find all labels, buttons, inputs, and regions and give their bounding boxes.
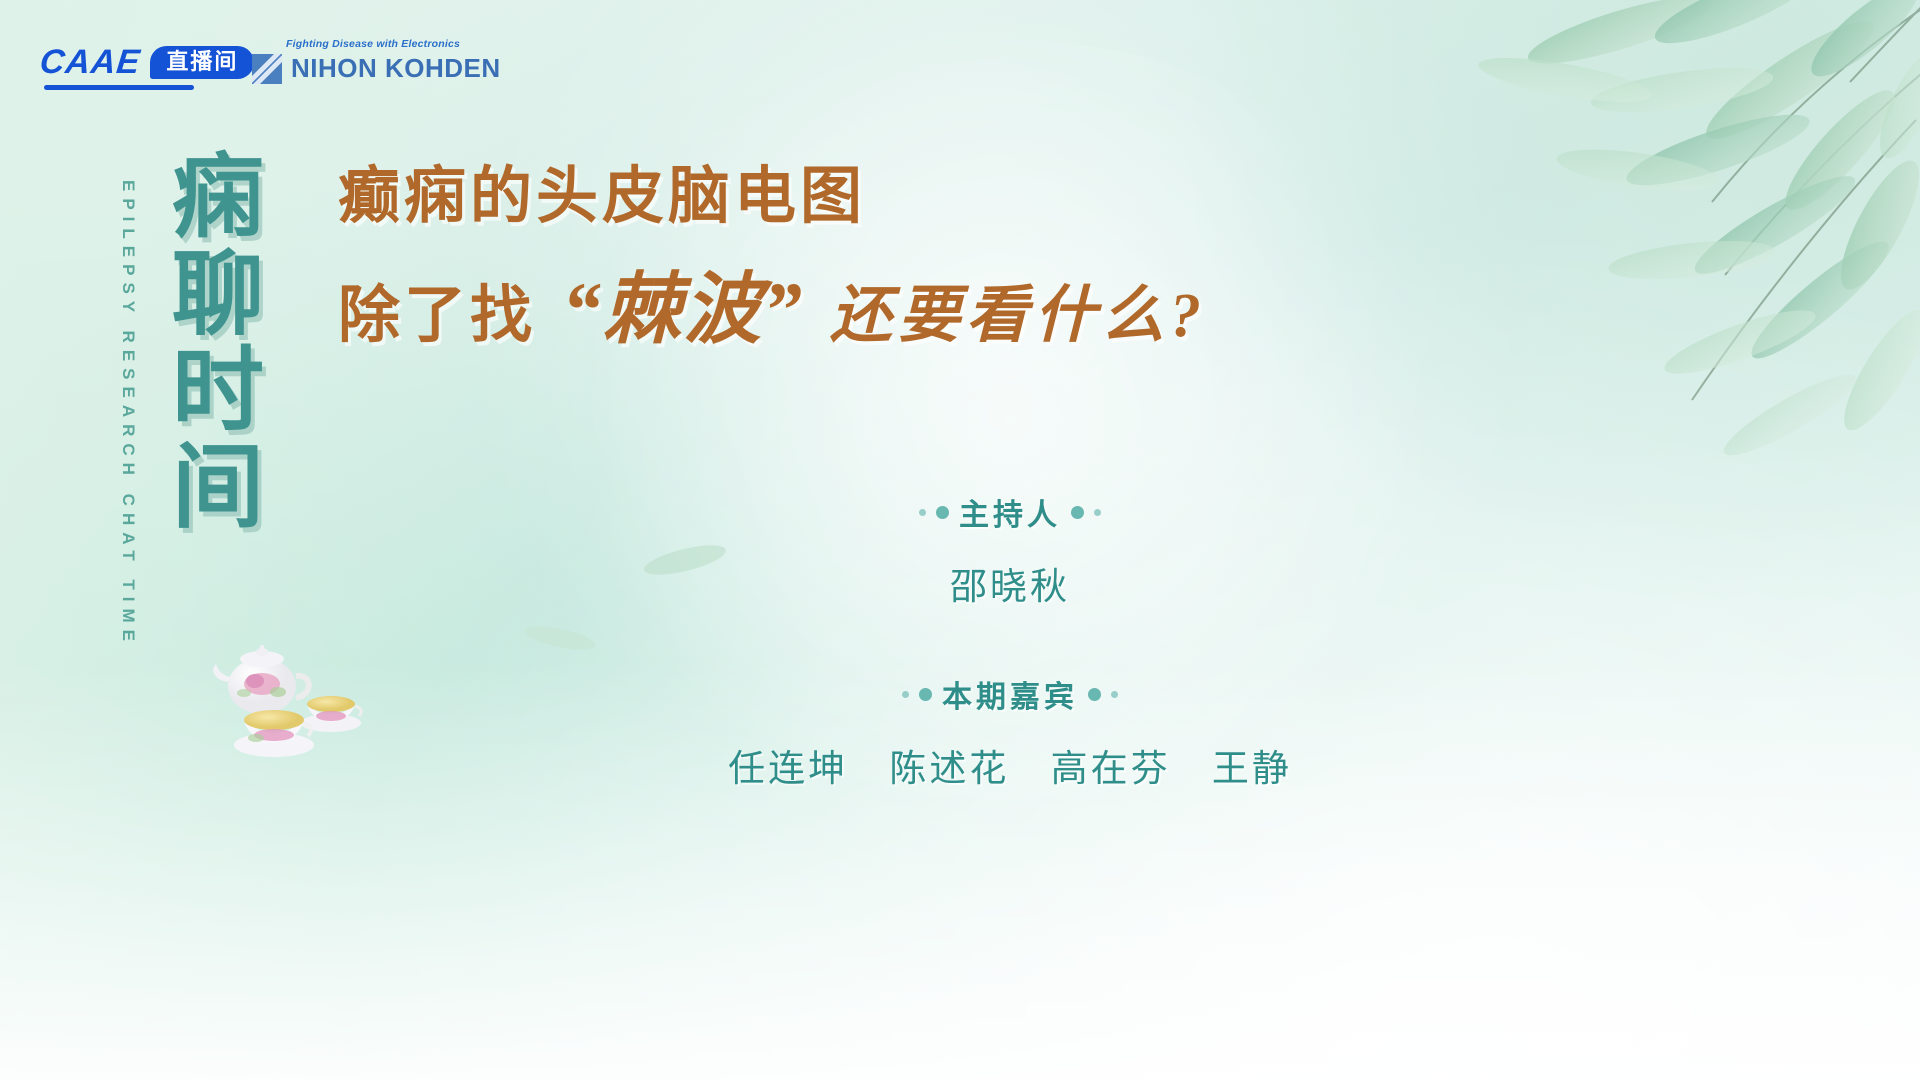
nihon-kohden-logo[interactable]: Fighting Disease with Electronics NIHON … xyxy=(252,38,501,84)
nihon-kohden-mark-icon xyxy=(252,54,282,84)
caae-wordmark: CAAE xyxy=(38,43,142,82)
nihon-kohden-wordmark: NIHON KOHDEN xyxy=(291,53,501,84)
ornament-dot-icon xyxy=(1111,691,1118,698)
caae-logo[interactable]: CAAE 直播间 xyxy=(40,40,254,84)
host-label-row: 主持人 xyxy=(640,490,1380,534)
header-logos: CAAE 直播间 Fighting Disease with Electroni… xyxy=(0,0,1920,120)
poster-canvas: CAAE 直播间 Fighting Disease with Electroni… xyxy=(0,0,1920,1080)
main-title: 癫痫的头皮脑电图 除了找 “棘波” 还要看什么? xyxy=(338,160,1758,359)
floating-leaf-icon xyxy=(520,620,600,656)
ornament-dot-icon xyxy=(919,688,932,701)
guest-label-row: 本期嘉宾 xyxy=(640,672,1380,716)
ornament-dot-icon xyxy=(919,509,926,516)
tea-set-illustration xyxy=(200,640,370,760)
guest-name: 陈述花 xyxy=(889,748,1009,789)
guest-label: 本期嘉宾 xyxy=(942,672,1078,716)
host-names: 邵晓秋 xyxy=(640,556,1380,610)
ornament-dot-icon xyxy=(1094,509,1101,516)
ornament-dot-icon xyxy=(936,506,949,519)
brand-char-3: 时 xyxy=(172,343,292,440)
caae-underline xyxy=(44,85,194,90)
guest-name: 高在芬 xyxy=(1051,748,1171,789)
title-line-2-quoted: “棘波” xyxy=(562,247,804,359)
caae-live-room-badge: 直播间 xyxy=(150,46,254,79)
guest-credits: 本期嘉宾 任连坤 陈述花 高在芬 王静 xyxy=(640,672,1380,792)
ornament-dot-icon xyxy=(1088,688,1101,701)
title-line-1: 癫痫的头皮脑电图 xyxy=(338,160,1758,233)
ornament-dot-icon xyxy=(1071,506,1084,519)
host-name: 邵晓秋 xyxy=(950,566,1070,607)
host-credits: 主持人 邵晓秋 xyxy=(640,490,1380,610)
host-label: 主持人 xyxy=(959,490,1061,534)
brand-block: EPILEPSY RESEARCH CHAT TIME 痫 聊 时 间 xyxy=(118,150,348,670)
brand-english-vertical: EPILEPSY RESEARCH CHAT TIME xyxy=(118,180,138,648)
nihon-kohden-tagline: Fighting Disease with Electronics xyxy=(286,38,501,50)
brand-char-4: 间 xyxy=(172,440,292,537)
title-line-2-prefix: 除了找 xyxy=(338,264,536,354)
guest-name: 任连坤 xyxy=(728,748,848,789)
brand-char-2: 聊 xyxy=(172,247,292,344)
brand-chinese-vertical: 痫 聊 时 间 xyxy=(172,150,292,536)
title-line-2: 除了找 “棘波” 还要看什么? xyxy=(338,247,1758,359)
brand-char-1: 痫 xyxy=(172,150,292,247)
guest-names: 任连坤 陈述花 高在芬 王静 xyxy=(640,738,1380,792)
ornament-dot-icon xyxy=(902,691,909,698)
guest-name: 王静 xyxy=(1212,748,1292,789)
title-line-2-suffix: 还要看什么? xyxy=(830,264,1207,354)
